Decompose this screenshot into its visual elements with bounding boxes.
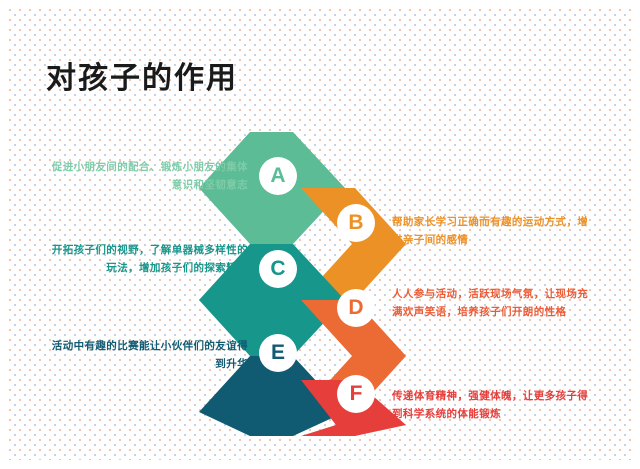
step-badge-f-label: F xyxy=(350,382,363,406)
slide-frame-top xyxy=(0,0,640,8)
step-badge-c-label: C xyxy=(270,257,285,281)
step-caption-b: 帮助家长学习正确而有趣的运动方式，增进亲子间的感情 xyxy=(392,213,592,249)
step-badge-a-label: A xyxy=(270,164,285,188)
step-caption-f: 传递体育精神，强健体魄，让更多孩子得到科学系统的体能锻炼 xyxy=(392,387,592,423)
step-badge-e[interactable]: E xyxy=(259,334,297,372)
step-badge-d[interactable]: D xyxy=(337,289,375,327)
slide-frame-left xyxy=(0,0,8,469)
slide-canvas: 对孩子的作用 A B C D E F 促进小朋友间的配合、锻炼小朋友的集体意识和… xyxy=(0,0,640,469)
step-caption-c: 开拓孩子们的视野，了解单器械多样性的玩法，增加孩子们的探索精神 xyxy=(48,241,248,277)
step-badge-a[interactable]: A xyxy=(259,157,297,195)
slide-frame-right xyxy=(632,0,640,469)
slide-frame-bottom xyxy=(0,460,640,469)
step-badge-b[interactable]: B xyxy=(337,204,375,242)
step-caption-d: 人人参与活动，活跃现场气氛，让现场充满欢声笑语，培养孩子们开朗的性格 xyxy=(392,285,592,321)
step-badge-d-label: D xyxy=(348,296,363,320)
step-caption-e: 活动中有趣的比赛能让小伙伴们的友谊得到升华 xyxy=(48,337,248,373)
step-badge-b-label: B xyxy=(348,211,363,235)
step-badge-f[interactable]: F xyxy=(337,375,375,413)
step-badge-c[interactable]: C xyxy=(259,250,297,288)
step-badge-e-label: E xyxy=(271,341,285,365)
page-title: 对孩子的作用 xyxy=(46,60,238,98)
step-caption-a: 促进小朋友间的配合、锻炼小朋友的集体意识和坚韧意志 xyxy=(48,158,248,194)
